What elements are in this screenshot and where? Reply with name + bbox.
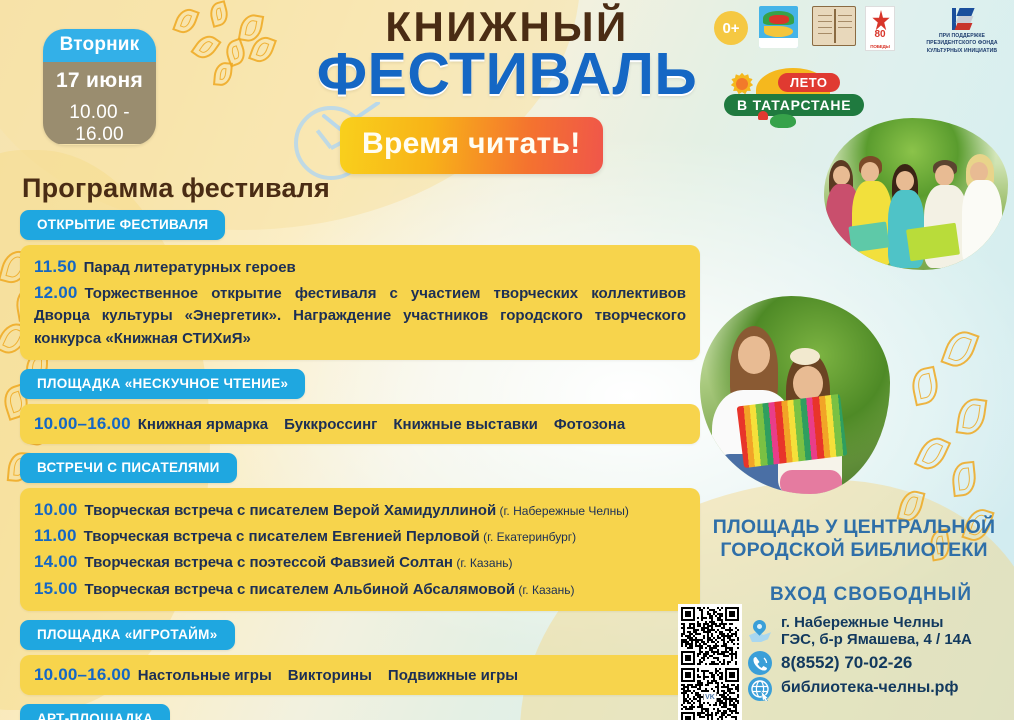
victory-caption: ПОБЕДЫ	[866, 44, 894, 49]
program-row-text: Творческая встреча с писателем Верой Хам…	[85, 502, 497, 519]
title-line-2: ФЕСТИВАЛЬ	[292, 46, 722, 104]
fund-support-text: ПРИ ПОДДЕРЖКЕ ПРЕЗИДЕНТСКОГО ФОНДА КУЛЬТ…	[918, 33, 1006, 55]
location-pin-icon	[748, 619, 772, 643]
program-section-body: 11.50Парад литературных героев12.00Торже…	[20, 245, 700, 360]
leaf-decoration	[956, 396, 988, 436]
program-row-text: Творческая встреча с поэтессой Фавзией С…	[85, 554, 453, 571]
title-block: КНИЖНЫЙ ФЕСТИВАЛЬ Время читать!	[292, 6, 722, 104]
program-row-time: 15.00	[34, 579, 78, 598]
program-activity: Подвижные игры	[388, 667, 518, 684]
free-entry-label: ВХОД СВОБОДНЫЙ	[756, 584, 986, 606]
program-row-text: Торжественное открытие фестиваля с участ…	[34, 285, 686, 346]
leaf-decoration	[940, 326, 979, 371]
program-activity: Буккроссинг	[284, 416, 377, 433]
program-activity: Книжная ярмарка	[138, 416, 268, 433]
program-row: 10.00–16.00Настольные игрыВикториныПодви…	[34, 662, 686, 687]
summer-leto-label: ЛЕТО	[778, 73, 840, 92]
logo-strip: 0+ 80 ПОБЕДЫ	[714, 6, 1006, 55]
program-section-header: ОТКРЫТИЕ ФЕСТИВАЛЯ	[20, 210, 225, 240]
program-row: 15.00Творческая встреча с писателем Альб…	[34, 576, 686, 601]
photo-teens-reading	[824, 118, 1008, 270]
date-badge-hours: 10.00 - 16.00	[43, 102, 156, 145]
program-row-time: 10.00–16.00	[34, 665, 131, 684]
qr-code-vk[interactable]: VK	[678, 665, 742, 720]
program-row: 10.00–16.00Книжная ярмаркаБуккроссингКни…	[34, 411, 686, 436]
contact-website[interactable]: библиотека-челны.рф	[748, 677, 996, 701]
program-row-city: (г. Набережные Челны)	[496, 504, 629, 518]
program-row-time: 10.00	[34, 500, 78, 519]
summer-region-label: В ТАТАРСТАНЕ	[724, 94, 864, 116]
contact-phone[interactable]: 8(8552) 70-02-26	[748, 651, 996, 675]
globe-icon	[748, 677, 772, 701]
leaf-decoration	[914, 432, 951, 474]
program-activity: Викторины	[288, 667, 372, 684]
program-section-body: 10.00–16.00Книжная ярмаркаБуккроссингКни…	[20, 404, 700, 444]
address-line-1: г. Набережные Челны	[781, 614, 972, 631]
tulip-icon	[758, 111, 768, 120]
date-badge: Вторник 17 июня 10.00 - 16.00	[43, 29, 156, 145]
program-row-time: 11.00	[34, 526, 77, 545]
photo-mother-and-daughter-reading	[700, 296, 890, 494]
program-row-text: Творческая встреча с писателем Альбиной …	[85, 581, 516, 598]
program-row: 10.00Творческая встреча с писателем Веро…	[34, 497, 686, 522]
venue-line-1: ПЛОЩАДЬ У ЦЕНТРАЛЬНОЙ	[708, 516, 1000, 539]
striped-book-prop	[737, 394, 848, 468]
city-emblem-logo	[759, 6, 801, 48]
tree-icon	[770, 114, 796, 128]
program-row: 11.50Парад литературных героев	[34, 254, 686, 279]
leaf-decoration	[909, 366, 942, 407]
leaf-decoration	[950, 461, 977, 497]
program-section-header: ВСТРЕЧИ С ПИСАТЕЛЯМИ	[20, 453, 237, 483]
venue-title: ПЛОЩАДЬ У ЦЕНТРАЛЬНОЙ ГОРОДСКОЙ БИБЛИОТЕ…	[708, 516, 1000, 563]
program-row-city: (г. Казань)	[515, 583, 575, 597]
slogan-badge: Время читать!	[340, 117, 603, 174]
program-activity: Настольные игры	[138, 667, 272, 684]
victory-number: 80	[866, 29, 894, 40]
program-row-text: Парад литературных героев	[84, 259, 296, 276]
date-badge-date: 17 июня	[43, 69, 156, 93]
phone-icon	[748, 651, 772, 675]
program-row-city: (г. Казань)	[453, 556, 513, 570]
contact-block: г. Набережные Челны ГЭС, б-р Ямашева, 4 …	[748, 614, 996, 703]
qr-code-website[interactable]	[678, 604, 742, 668]
program-row-time: 11.50	[34, 257, 77, 276]
program-section-header: ПЛОЩАДКА «НЕСКУЧНОЕ ЧТЕНИЕ»	[20, 369, 305, 399]
program-list: ОТКРЫТИЕ ФЕСТИВАЛЯ11.50Парад литературны…	[20, 210, 700, 720]
age-rating-badge: 0+	[714, 11, 748, 45]
program-row: 12.00Торжественное открытие фестиваля с …	[34, 280, 686, 350]
program-section-body: 10.00–16.00Настольные игрыВикториныПодви…	[20, 655, 700, 695]
contact-address: г. Набережные Челны ГЭС, б-р Ямашева, 4 …	[748, 614, 996, 649]
victory-80-logo: 80 ПОБЕДЫ	[865, 6, 907, 51]
phone-number: 8(8552) 70-02-26	[781, 653, 912, 673]
sun-icon	[731, 73, 753, 95]
summer-in-tatarstan-logo: ЛЕТО В ТАТАРСТАНЕ	[724, 68, 876, 118]
program-section-header: АРТ-ПЛОЩАДКА	[20, 704, 170, 720]
program-row-time: 14.00	[34, 552, 78, 571]
program-row-city: (г. Екатеринбург)	[480, 530, 576, 544]
open-book-prop	[848, 221, 889, 252]
program-activity: Книжные выставки	[393, 416, 537, 433]
presidential-fund-logo: ПРИ ПОДДЕРЖКЕ ПРЕЗИДЕНТСКОГО ФОНДА КУЛЬТ…	[918, 6, 1006, 55]
festival-poster: Вторник 17 июня 10.00 - 16.00 КНИЖНЫЙ ФЕ…	[0, 0, 1014, 720]
website-url: библиотека-челны.рф	[781, 679, 958, 697]
program-row: 11.00Творческая встреча с писателем Евге…	[34, 523, 686, 548]
page-title: Программа фестиваля	[22, 173, 330, 204]
program-row-time: 10.00–16.00	[34, 414, 131, 433]
program-section-header: ПЛОЩАДКА «ИГРОТАЙМ»	[20, 620, 235, 650]
address-line-2: ГЭС, б-р Ямашева, 4 / 14А	[781, 631, 972, 648]
date-badge-weekday: Вторник	[43, 29, 156, 62]
open-book-logo	[812, 6, 854, 46]
vk-icon: VK	[704, 692, 717, 702]
venue-line-2: ГОРОДСКОЙ БИБЛИОТЕКИ	[708, 539, 1000, 562]
program-activity: Фотозона	[554, 416, 625, 433]
program-row-text: Творческая встреча с писателем Евгенией …	[84, 528, 480, 545]
program-section-body: 10.00Творческая встреча с писателем Веро…	[20, 488, 700, 611]
program-row-time: 12.00	[34, 283, 78, 302]
vk-label: VK	[705, 694, 715, 701]
program-row: 14.00Творческая встреча с поэтессой Фавз…	[34, 549, 686, 574]
